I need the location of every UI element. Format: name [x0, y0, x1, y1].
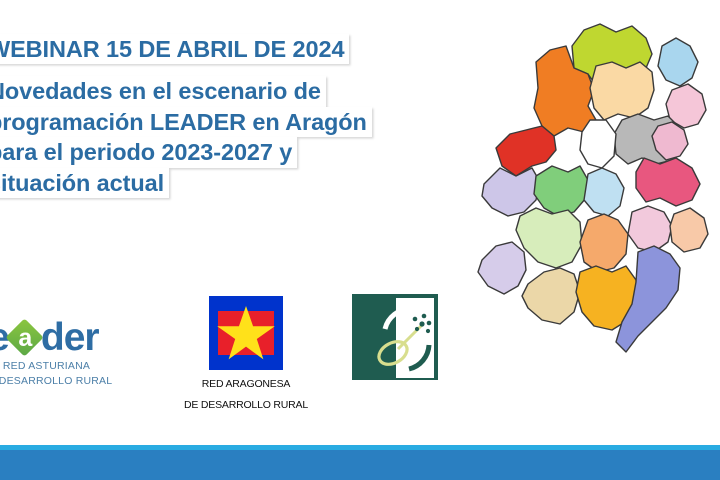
region-comarca-naranja-claro-este	[670, 208, 708, 252]
headline-line-3: para el periodo 2023-2027 y	[0, 137, 458, 168]
red-aragonesa-logo: RED ARAGONESA DE DESARROLLO RURAL	[182, 296, 310, 412]
region-comarca-azul-claro-noreste	[658, 38, 698, 86]
region-comarca-verde-palido-suroeste	[516, 208, 582, 268]
region-comarca-rosa-claro-sureste	[628, 206, 672, 252]
title-block: WEBINAR 15 DE ABRIL DE 2024 Novedades en…	[0, 34, 458, 198]
headline-line-1: Novedades en el escenario de	[0, 76, 458, 107]
webinar-kicker: WEBINAR 15 DE ABRIL DE 2024	[0, 34, 458, 64]
region-comarca-melocoton-centro-norte	[590, 62, 654, 120]
slide-canvas: WEBINAR 15 DE ABRIL DE 2024 Novedades en…	[0, 0, 720, 480]
reader-logo: re a der RED ASTURIANA DE DESARROLLO RUR…	[0, 314, 124, 388]
bottom-bar-body	[0, 450, 720, 480]
leader-logo: LEADER	[352, 294, 440, 382]
region-unshaded-interior	[580, 120, 616, 168]
headline-line-2-text: programación LEADER en Aragón	[0, 107, 372, 138]
region-comarca-lavanda-sur	[478, 242, 526, 294]
webinar-kicker-text: WEBINAR 15 DE ABRIL DE 2024	[0, 34, 349, 64]
headline-line-3-text: para el periodo 2023-2027 y	[0, 137, 297, 168]
region-comarca-azul-palido-centro	[584, 168, 624, 216]
headline-line-2: programación LEADER en Aragón	[0, 107, 458, 138]
bottom-accent-bar	[0, 445, 720, 480]
logo-row: re a der RED ASTURIANA DE DESARROLLO RUR…	[0, 288, 470, 418]
red-aragonesa-star-icon	[209, 296, 283, 370]
aragon-map-svg	[476, 16, 720, 426]
reader-subtitle-line-2: DE DESARROLLO RURAL	[0, 375, 119, 388]
reader-wordmark: re a der	[0, 314, 124, 358]
red-aragonesa-name-line-2: DE DESARROLLO RURAL	[182, 399, 310, 412]
region-comarca-verde-medio	[534, 166, 588, 216]
reader-diamond-letter: a	[8, 321, 42, 355]
leader-logo-box: LEADER	[352, 294, 438, 380]
region-comarca-beige-suroeste	[522, 268, 580, 324]
region-comarca-salmon-centro-sur	[580, 214, 628, 272]
headline-line-4-text: situación actual	[0, 168, 169, 199]
reader-diamond-icon: a	[8, 321, 42, 355]
reader-subtitle-line-1: RED ASTURIANA	[0, 360, 119, 373]
region-comarca-lila-suroeste	[482, 168, 540, 216]
headline-line-1-text: Novedades en el escenario de	[0, 76, 326, 107]
region-comarca-rosa-fuerte-este	[636, 158, 700, 206]
leader-plant-icon	[353, 295, 438, 380]
reader-word-right: der	[41, 316, 99, 360]
headline-line-4: situación actual	[0, 168, 458, 199]
aragon-comarcas-map	[476, 16, 720, 426]
red-aragonesa-name-line-1: RED ARAGONESA	[182, 378, 310, 391]
